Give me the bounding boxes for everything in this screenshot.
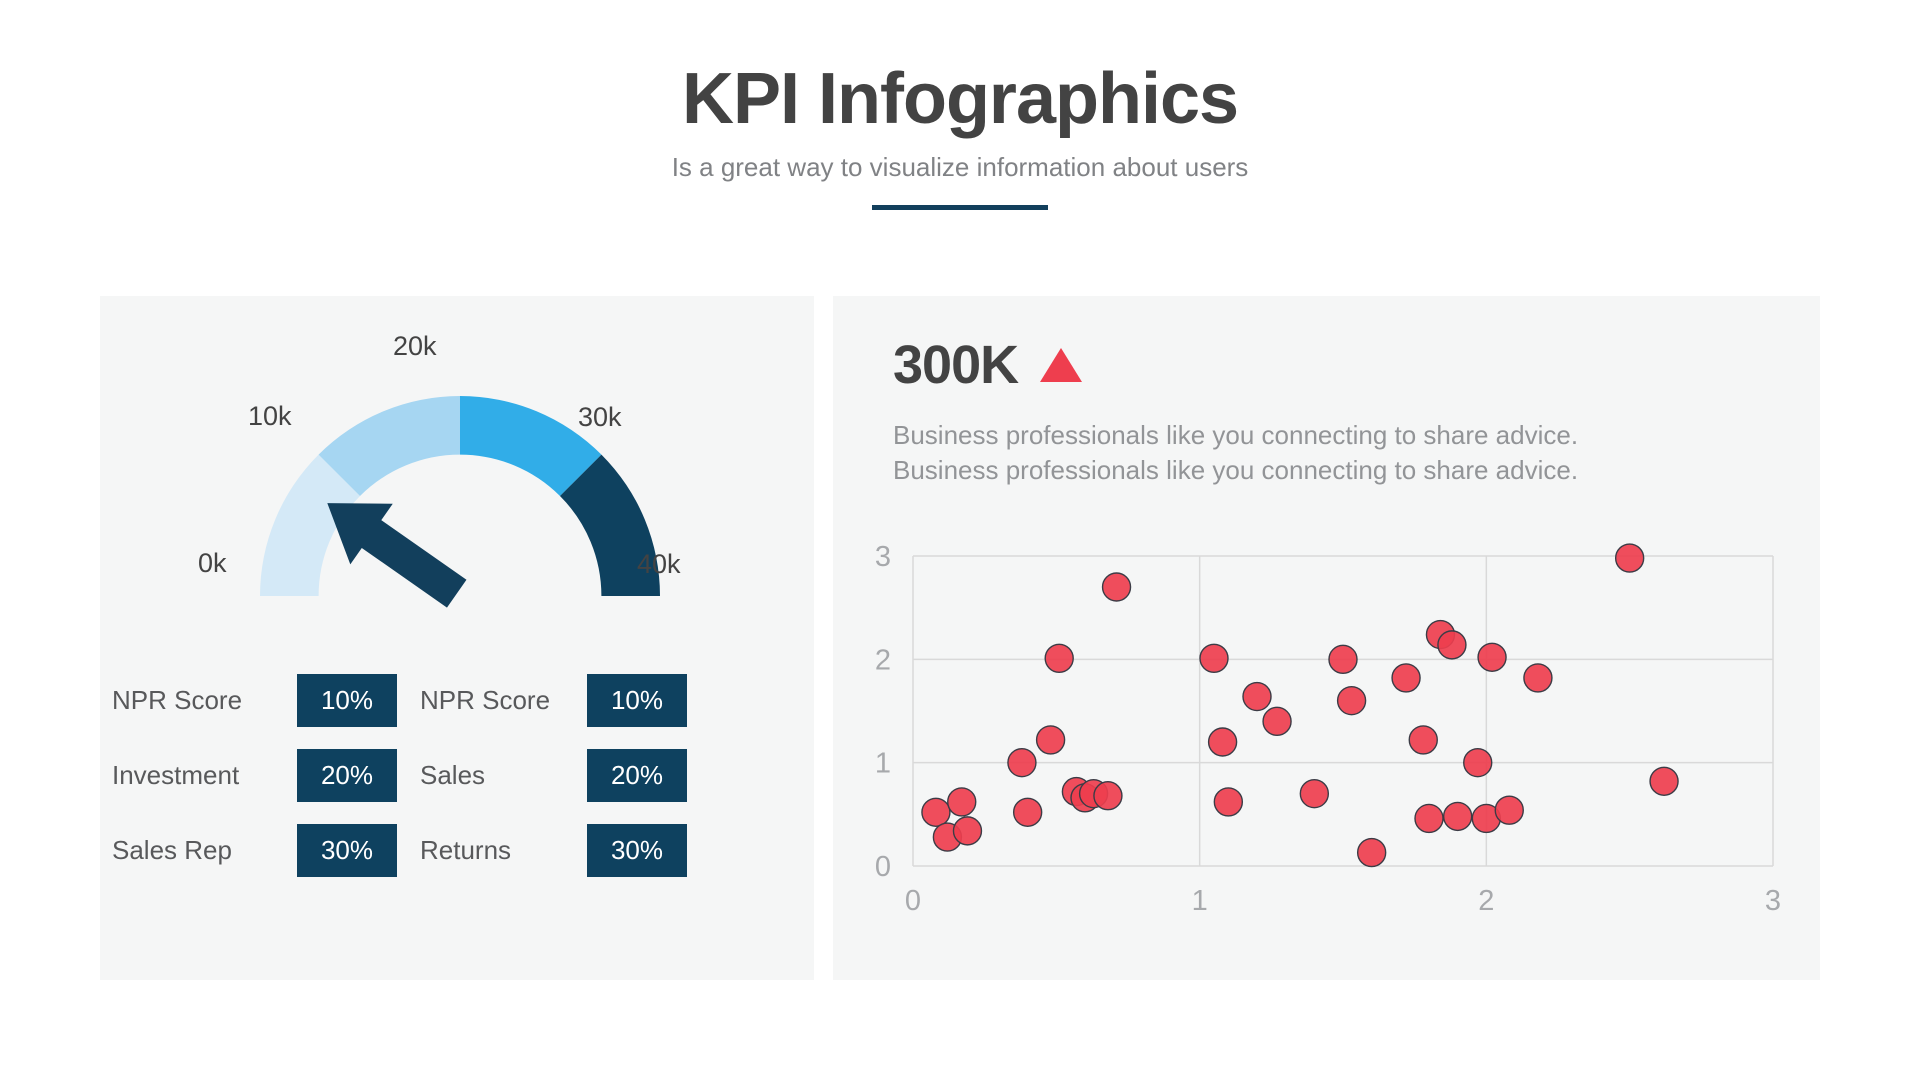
gauge-chart: 0k 10k 20k 30k 40k: [150, 316, 770, 646]
gauge-panel: 0k 10k 20k 30k 40k NPR Score 10% NPR Sco…: [100, 296, 814, 980]
kpi-badge-sales-rep: 30%: [297, 824, 397, 877]
scatter-point: [1358, 839, 1386, 867]
x-tick-label: 2: [1478, 885, 1494, 917]
y-tick-label: 2: [875, 644, 891, 676]
scatter-point: [1014, 798, 1042, 826]
scatter-point: [1200, 644, 1228, 672]
big-metric-value: 300K: [893, 338, 1018, 392]
kpi-label-returns: Returns: [402, 835, 587, 866]
kpi-badge-returns: 30%: [587, 824, 687, 877]
scatter-point: [1415, 804, 1443, 832]
kpi-badge-npr-score-1: 10%: [297, 674, 397, 727]
scatter-point: [1409, 726, 1437, 754]
page-header: KPI Infographics Is a great way to visua…: [0, 0, 1920, 210]
gauge-tick-label-40k: 40k: [637, 549, 681, 580]
scatter-point: [1094, 782, 1122, 810]
body-copy-line-2: Business professionals like you connecti…: [893, 453, 1713, 488]
body-copy-line-1: Business professionals like you connecti…: [893, 418, 1713, 453]
scatter-point: [1103, 573, 1131, 601]
kpi-label-npr-score-2: NPR Score: [402, 685, 587, 716]
kpi-label-sales: Sales: [402, 760, 587, 791]
gauge-svg: [150, 316, 770, 646]
y-tick-label: 1: [875, 748, 891, 780]
triangle-up-icon: [1040, 348, 1082, 382]
x-tick-label: 0: [905, 885, 921, 917]
y-tick-label: 3: [875, 541, 891, 573]
kpi-label-investment: Investment: [112, 760, 297, 791]
scatter-panel: 300K Business professionals like you con…: [833, 296, 1820, 980]
scatter-point: [1464, 749, 1492, 777]
kpi-label-sales-rep: Sales Rep: [112, 835, 297, 866]
scatter-point: [1243, 683, 1271, 711]
gauge-tick-label-10k: 10k: [248, 401, 292, 432]
scatter-point: [1495, 796, 1523, 824]
scatter-point: [1444, 802, 1472, 830]
scatter-point: [1438, 631, 1466, 659]
gauge-tick-label-0k: 0k: [198, 548, 227, 579]
title-accent-rule: [872, 205, 1048, 210]
scatter-point: [922, 798, 950, 826]
scatter-point: [1209, 728, 1237, 756]
kpi-label-npr-score-1: NPR Score: [112, 685, 297, 716]
scatter-point: [1008, 749, 1036, 777]
scatter-point: [1329, 645, 1357, 673]
kpi-metric-grid: NPR Score 10% NPR Score 10% Investment 2…: [112, 674, 802, 877]
scatter-point: [1037, 726, 1065, 754]
scatter-point: [1263, 707, 1291, 735]
body-copy: Business professionals like you connecti…: [893, 418, 1713, 487]
scatter-plot-svg: 01230123: [843, 536, 1803, 956]
scatter-point: [1300, 780, 1328, 808]
scatter-point: [1392, 664, 1420, 692]
scatter-point: [1524, 664, 1552, 692]
x-tick-label: 3: [1765, 885, 1781, 917]
gauge-tick-label-30k: 30k: [578, 402, 622, 433]
kpi-badge-investment: 20%: [297, 749, 397, 802]
gauge-tick-label-20k: 20k: [393, 331, 437, 362]
scatter-chart: 01230123: [843, 536, 1803, 956]
scatter-point: [1650, 767, 1678, 795]
scatter-point: [1616, 544, 1644, 572]
y-tick-label: 0: [875, 851, 891, 883]
scatter-point: [1045, 644, 1073, 672]
kpi-badge-sales: 20%: [587, 749, 687, 802]
page-subtitle: Is a great way to visualize information …: [0, 138, 1920, 183]
page-title: KPI Infographics: [0, 0, 1920, 138]
big-metric: 300K: [893, 338, 1082, 392]
scatter-point: [1478, 643, 1506, 671]
scatter-point: [1338, 687, 1366, 715]
scatter-point: [1214, 788, 1242, 816]
x-tick-label: 1: [1192, 885, 1208, 917]
scatter-point: [948, 788, 976, 816]
scatter-point: [953, 817, 981, 845]
kpi-badge-npr-score-2: 10%: [587, 674, 687, 727]
